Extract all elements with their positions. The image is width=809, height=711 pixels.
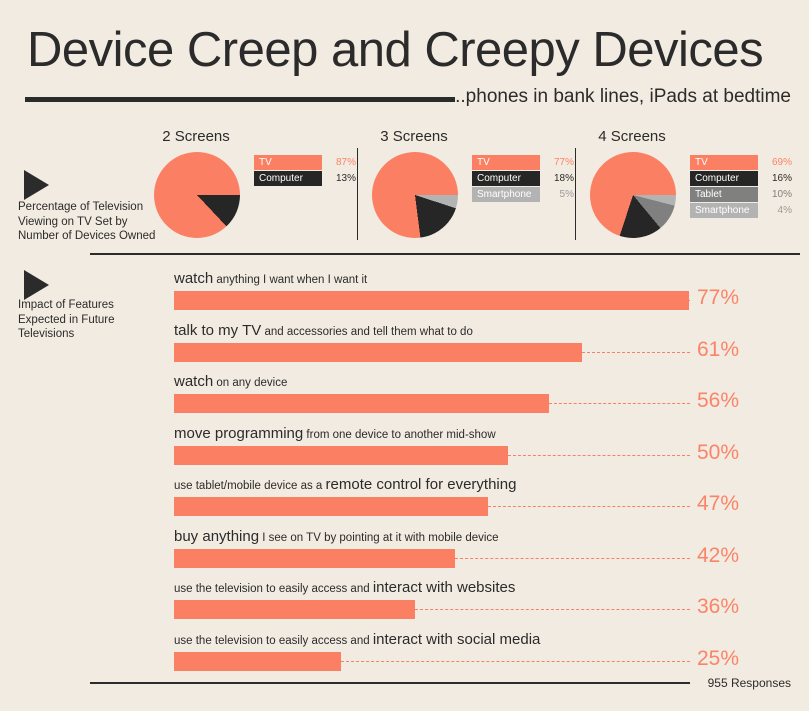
- footer-divider: [90, 682, 690, 684]
- bar-label-emphasis: move programming: [174, 425, 303, 442]
- bar-label-emphasis: remote control for everything: [326, 476, 517, 493]
- bar-percentage: 47%: [697, 492, 739, 516]
- legend-swatch-tv: TV: [254, 155, 322, 170]
- bar-label-emphasis: watch: [174, 270, 213, 287]
- pie-group-4-screens: 4 Screens TV 69% Computer 16% Tablet 10%…: [586, 128, 796, 248]
- bar-percentage: 25%: [697, 647, 739, 671]
- bar-fill: [174, 394, 549, 413]
- bar-leader-line: [549, 403, 690, 404]
- legend-swatch-tablet: Tablet: [690, 187, 758, 202]
- legend-row: Smartphone 5%: [472, 187, 577, 202]
- bar-fill: [174, 549, 455, 568]
- triangle-right-icon: [24, 170, 49, 200]
- bar-label-rest: and accessories and tell them what to do: [261, 326, 473, 338]
- bar-label: use tablet/mobile device as a remote con…: [174, 476, 516, 494]
- bar-label: use the television to easily access and …: [174, 631, 540, 649]
- legend-value-tv: 69%: [758, 157, 795, 168]
- bar-label-emphasis: talk to my TV: [174, 322, 261, 339]
- bar-leader-line: [488, 506, 690, 507]
- pie-chart-4-screens: [590, 152, 676, 238]
- bar-fill: [174, 497, 488, 516]
- legend-value-computer: 13%: [322, 173, 359, 184]
- bar-fill: [174, 291, 689, 310]
- bar-label-emphasis: interact with websites: [373, 579, 516, 596]
- legend-value-tablet: 10%: [758, 189, 795, 200]
- bar-leader-line: [455, 558, 690, 559]
- bar-label: talk to my TV and accessories and tell t…: [174, 322, 473, 340]
- legend-value-tv: 77%: [540, 157, 577, 168]
- section-label-features: Impact of Features Expected in Future Te…: [18, 298, 158, 342]
- pie-chart-3-screens: [372, 152, 458, 238]
- bar-label-rest: use the television to easily access and: [174, 583, 373, 595]
- bar-fill: [174, 446, 508, 465]
- bar-label-rest: I see on TV by pointing at it with mobil…: [259, 532, 499, 544]
- legend-swatch-smartphone: Smartphone: [472, 187, 540, 202]
- bar-percentage: 50%: [697, 441, 739, 465]
- legend-swatch-tv: TV: [690, 155, 758, 170]
- legend-value-smartphone: 5%: [540, 189, 577, 200]
- pie-group-3-screens: 3 Screens TV 77% Computer 18% Smartphone…: [368, 128, 568, 248]
- header-divider: [25, 97, 455, 102]
- pie-group-2-screens: 2 Screens TV 87% Computer 13%: [150, 128, 350, 248]
- bar-label-emphasis: interact with social media: [373, 631, 541, 648]
- bar-leader-line: [415, 609, 690, 610]
- legend-row: Tablet 10%: [690, 187, 795, 202]
- bar-label: use the television to easily access and …: [174, 579, 515, 597]
- legend-swatch-smartphone: Smartphone: [690, 203, 758, 218]
- bar-leader-line: [582, 352, 690, 353]
- bar-percentage: 61%: [697, 338, 739, 362]
- legend-swatch-computer: Computer: [690, 171, 758, 186]
- bar-percentage: 56%: [697, 389, 739, 413]
- legend-row: Computer 16%: [690, 171, 795, 186]
- bar-leader-line: [689, 300, 690, 301]
- legend-row: TV 69%: [690, 155, 795, 170]
- legend-row: TV 77%: [472, 155, 577, 170]
- bar-fill: [174, 343, 582, 362]
- pie-legend-3-screens: TV 77% Computer 18% Smartphone 5%: [472, 155, 577, 203]
- bar-label-rest: anything I want when I want it: [213, 274, 367, 286]
- bar-label-emphasis: buy anything: [174, 528, 259, 545]
- bar-label: watch anything I want when I want it: [174, 270, 367, 288]
- bar-percentage: 42%: [697, 544, 739, 568]
- pie-section-divider-1: [357, 148, 358, 240]
- pie-title-2-screens: 2 Screens: [150, 128, 242, 145]
- pie-section-divider-2: [575, 148, 576, 240]
- legend-value-smartphone: 4%: [758, 205, 795, 216]
- legend-swatch-computer: Computer: [472, 171, 540, 186]
- bar-label-rest: from one device to another mid-show: [303, 429, 495, 441]
- bar-label: move programming from one device to anot…: [174, 425, 496, 443]
- bar-label-rest: use the television to easily access and: [174, 635, 373, 647]
- bar-label: buy anything I see on TV by pointing at …: [174, 528, 499, 546]
- bar-fill: [174, 652, 341, 671]
- legend-swatch-tv: TV: [472, 155, 540, 170]
- bar-leader-line: [341, 661, 690, 662]
- pie-legend-2-screens: TV 87% Computer 13%: [254, 155, 359, 187]
- legend-row: Smartphone 4%: [690, 203, 795, 218]
- bar-label-rest: on any device: [213, 377, 287, 389]
- pie-legend-4-screens: TV 69% Computer 16% Tablet 10% Smartphon…: [690, 155, 795, 219]
- footer-responses: 955 Responses: [708, 676, 791, 690]
- pie-title-4-screens: 4 Screens: [586, 128, 678, 145]
- legend-row: Computer 18%: [472, 171, 577, 186]
- bar-label: watch on any device: [174, 373, 287, 391]
- legend-row: TV 87%: [254, 155, 359, 170]
- section-divider-rule: [90, 253, 800, 255]
- legend-value-computer: 16%: [758, 173, 795, 184]
- bar-leader-line: [508, 455, 690, 456]
- bar-label-emphasis: watch: [174, 373, 213, 390]
- section-label-viewing: Percentage of Television Viewing on TV S…: [18, 200, 163, 244]
- bar-percentage: 77%: [697, 286, 739, 310]
- legend-swatch-computer: Computer: [254, 171, 322, 186]
- pie-title-3-screens: 3 Screens: [368, 128, 460, 145]
- page-title: Device Creep and Creepy Devices: [27, 22, 763, 78]
- page-subtitle: ...phones in bank lines, iPads at bedtim…: [450, 86, 791, 108]
- legend-row: Computer 13%: [254, 171, 359, 186]
- triangle-right-icon: [24, 270, 49, 300]
- pie-chart-2-screens: [154, 152, 240, 238]
- bar-percentage: 36%: [697, 595, 739, 619]
- bar-label-rest: use tablet/mobile device as a: [174, 480, 326, 492]
- infographic-page: Device Creep and Creepy Devices ...phone…: [0, 0, 809, 711]
- legend-value-computer: 18%: [540, 173, 577, 184]
- bar-fill: [174, 600, 415, 619]
- legend-value-tv: 87%: [322, 157, 359, 168]
